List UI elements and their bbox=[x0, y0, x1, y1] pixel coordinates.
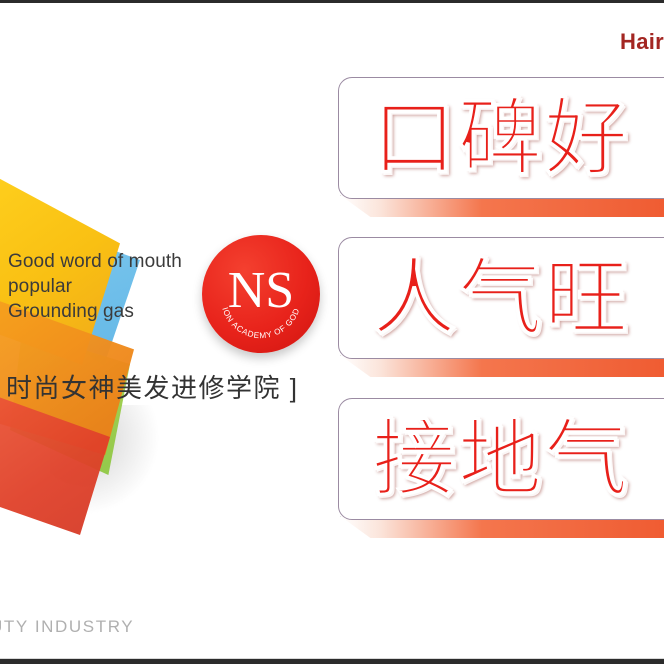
banner-label: 接地气 bbox=[372, 417, 630, 501]
slide-canvas: Good word of mouth popular Grounding gas… bbox=[0, 0, 664, 664]
ns-logo: NS FASHION ACADEMY OF GODDESS bbox=[202, 235, 320, 353]
slide-top-rule bbox=[0, 0, 664, 3]
logo-monogram: NS bbox=[228, 262, 294, 319]
corner-brand-label: Hair bbox=[620, 29, 664, 55]
banner-label: 口碑好 bbox=[372, 96, 630, 180]
english-tagline: Good word of mouth popular Grounding gas bbox=[8, 249, 182, 324]
slide-bottom-rule bbox=[0, 659, 664, 664]
logo-artwork: NS FASHION ACADEMY OF GODDESS bbox=[202, 235, 320, 353]
decorative-polygon-cluster bbox=[0, 175, 170, 505]
english-tagline-line-2: popular bbox=[8, 274, 182, 299]
banner-label: 人气旺 bbox=[372, 256, 630, 340]
footer-industry-label: UTY INDUSTRY bbox=[0, 617, 134, 637]
english-tagline-line-3: Grounding gas bbox=[8, 299, 182, 324]
english-tagline-line-1: Good word of mouth bbox=[8, 249, 182, 274]
school-name-subtitle: 时尚女神美发进修学院 ] bbox=[6, 368, 298, 405]
slogan-banner[interactable]: 人气旺 bbox=[338, 237, 664, 359]
slogan-banner[interactable]: 口碑好 bbox=[338, 77, 664, 199]
slogan-banner[interactable]: 接地气 bbox=[338, 398, 664, 520]
